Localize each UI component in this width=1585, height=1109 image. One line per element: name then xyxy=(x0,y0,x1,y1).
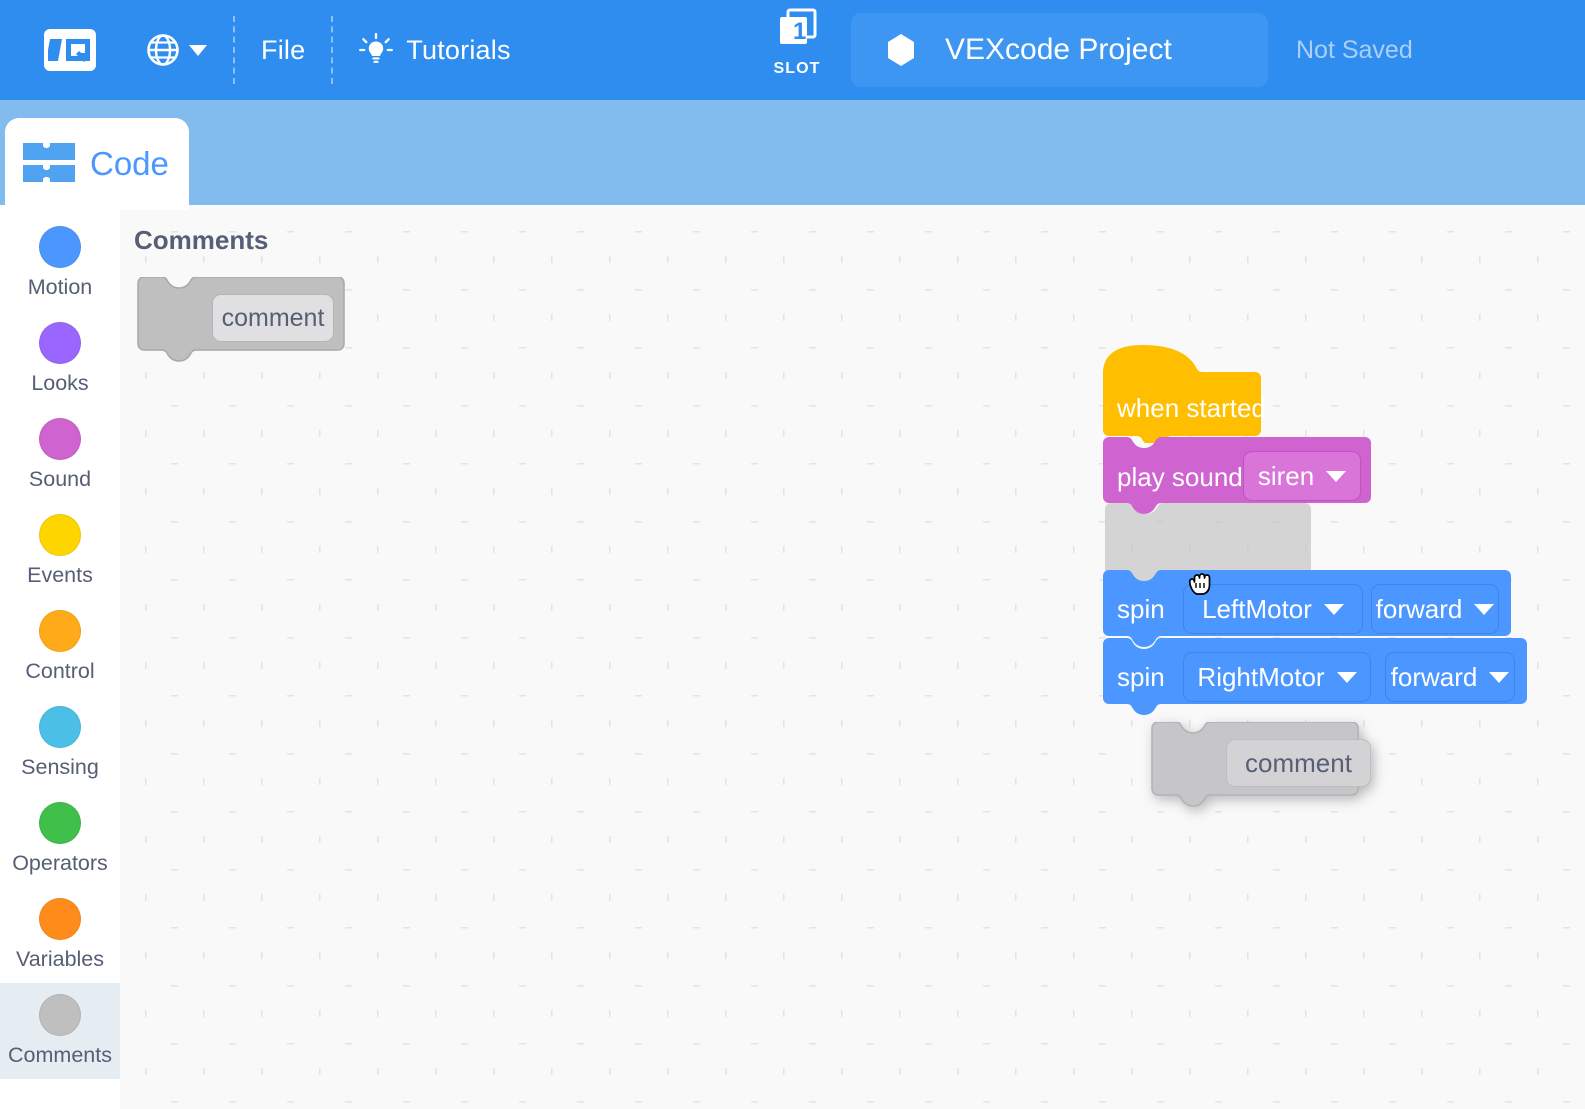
sidebar-item-comments[interactable]: Comments xyxy=(0,983,120,1079)
variables-color-icon xyxy=(39,898,81,940)
globe-icon xyxy=(146,33,180,67)
comment-text-field[interactable]: comment xyxy=(212,294,334,342)
sidebar-item-label: Sound xyxy=(29,467,91,492)
looks-color-icon xyxy=(39,322,81,364)
chevron-down-icon xyxy=(1324,604,1344,615)
sidebar-item-looks[interactable]: Looks xyxy=(0,311,120,407)
lightbulb-icon xyxy=(359,33,393,67)
spin-left-motor-block[interactable]: spin LeftMotor forward xyxy=(1103,570,1511,648)
block-workspace[interactable]: Comments comment when started play sound… xyxy=(120,205,1585,1109)
header-divider xyxy=(233,16,235,84)
sidebar-item-label: Motion xyxy=(28,275,93,300)
project-name-label: VEXcode Project xyxy=(945,33,1172,67)
project-name-button[interactable]: VEXcode Project xyxy=(851,13,1268,87)
sound-dropdown[interactable]: siren xyxy=(1243,451,1361,501)
direction-dropdown[interactable]: forward xyxy=(1385,652,1515,702)
language-selector[interactable] xyxy=(146,33,207,67)
when-started-block[interactable]: when started xyxy=(1103,343,1266,443)
chevron-down-icon xyxy=(1326,471,1346,482)
direction-dropdown[interactable]: forward xyxy=(1371,584,1499,634)
play-sound-label: play sound xyxy=(1117,462,1243,493)
comments-color-icon xyxy=(39,994,81,1036)
tutorials-label: Tutorials xyxy=(406,35,510,66)
chevron-down-icon xyxy=(189,45,207,56)
slot-label: SLOT xyxy=(773,60,820,78)
comment-text-field[interactable]: comment xyxy=(1226,739,1371,787)
motor-dropdown[interactable]: LeftMotor xyxy=(1183,584,1363,634)
sidebar-item-label: Events xyxy=(27,563,93,588)
palette-comment-block[interactable]: comment xyxy=(136,277,351,362)
vexcode-app: File Tutorials 1 SLOT xyxy=(0,0,1585,1109)
app-header: File Tutorials 1 SLOT xyxy=(0,0,1585,100)
tab-code[interactable]: Code xyxy=(5,118,189,210)
sidebar-item-events[interactable]: Events xyxy=(0,503,120,599)
motor-dropdown-value: LeftMotor xyxy=(1202,594,1312,625)
play-sound-block[interactable]: play sound siren xyxy=(1103,437,1371,515)
sound-color-icon xyxy=(39,418,81,460)
sidebar-item-label: Comments xyxy=(8,1043,112,1068)
save-status-label: Not Saved xyxy=(1296,36,1413,65)
header-divider xyxy=(331,16,333,84)
code-blocks-icon xyxy=(21,141,77,187)
direction-dropdown-value: forward xyxy=(1391,662,1478,693)
tutorials-button[interactable]: Tutorials xyxy=(359,33,510,67)
sidebar-item-label: Sensing xyxy=(21,755,99,780)
sound-dropdown-value: siren xyxy=(1258,461,1314,492)
control-color-icon xyxy=(39,610,81,652)
sidebar-item-label: Operators xyxy=(12,851,108,876)
motion-color-icon xyxy=(39,226,81,268)
chevron-down-icon xyxy=(1489,672,1509,683)
when-started-label: when started xyxy=(1117,393,1266,424)
sidebar-item-label: Looks xyxy=(31,371,88,396)
svg-text:1: 1 xyxy=(793,18,806,45)
sensing-color-icon xyxy=(39,706,81,748)
hexagon-icon xyxy=(886,33,916,67)
direction-dropdown-value: forward xyxy=(1376,594,1463,625)
motor-dropdown[interactable]: RightMotor xyxy=(1183,652,1371,702)
sidebar-item-label: Control xyxy=(25,659,94,684)
spin-label: spin xyxy=(1117,594,1165,625)
tab-code-label: Code xyxy=(90,145,169,183)
sidebar-item-motion[interactable]: Motion xyxy=(0,215,120,311)
sidebar-item-sensing[interactable]: Sensing xyxy=(0,695,120,791)
category-sidebar: Motion Looks Sound Events Control Sensin… xyxy=(0,205,120,1109)
spin-label: spin xyxy=(1117,662,1165,693)
dragged-comment-block[interactable]: comment xyxy=(1150,722,1365,807)
slot-selector[interactable]: 1 SLOT xyxy=(762,8,832,78)
spin-right-motor-block[interactable]: spin RightMotor forward xyxy=(1103,638,1527,716)
sidebar-item-operators[interactable]: Operators xyxy=(0,791,120,887)
sidebar-item-variables[interactable]: Variables xyxy=(0,887,120,983)
events-color-icon xyxy=(39,514,81,556)
palette-section-title: Comments xyxy=(134,225,268,256)
toolbar-band xyxy=(0,100,1585,205)
file-menu-button[interactable]: File xyxy=(261,35,305,66)
operators-color-icon xyxy=(39,802,81,844)
sidebar-item-sound[interactable]: Sound xyxy=(0,407,120,503)
chevron-down-icon xyxy=(1474,604,1494,615)
vex-iq-logo-icon[interactable] xyxy=(44,29,96,71)
motor-dropdown-value: RightMotor xyxy=(1197,662,1324,693)
sidebar-item-label: Variables xyxy=(16,947,104,972)
slot-stack-icon: 1 xyxy=(771,8,823,56)
sidebar-item-control[interactable]: Control xyxy=(0,599,120,695)
chevron-down-icon xyxy=(1337,672,1357,683)
